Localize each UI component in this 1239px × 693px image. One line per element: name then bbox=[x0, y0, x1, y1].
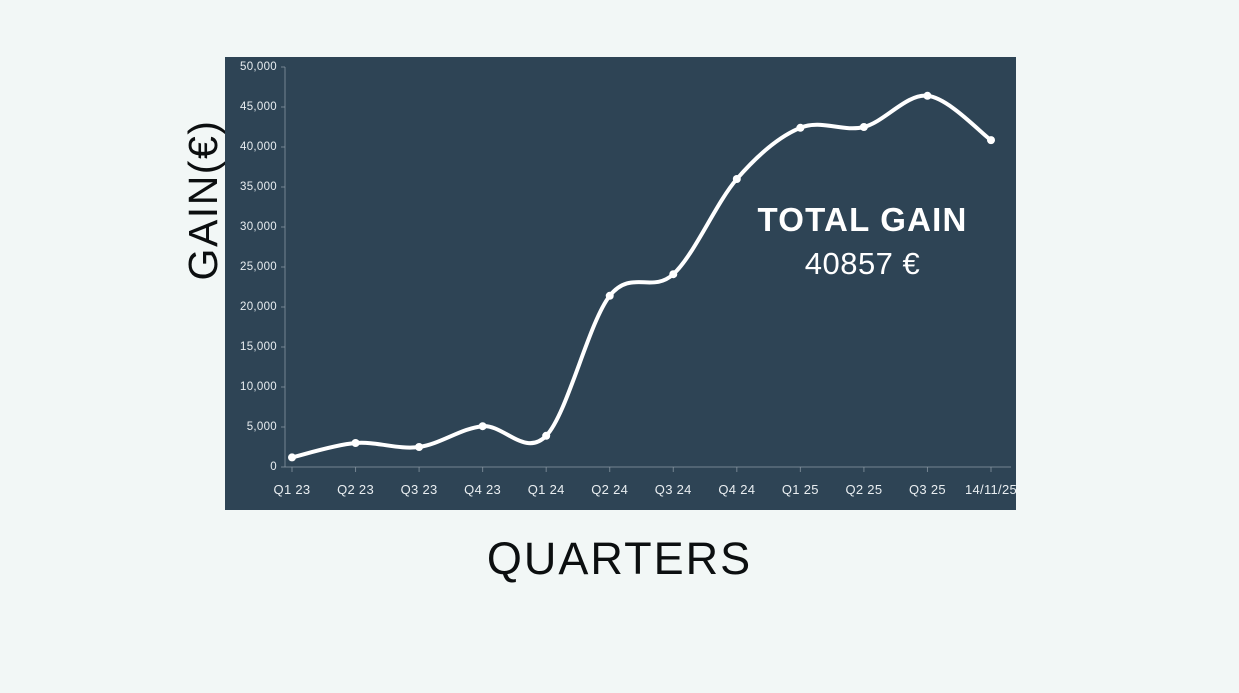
gain-series-markers bbox=[288, 92, 995, 462]
data-point-marker bbox=[415, 443, 423, 451]
data-point-marker bbox=[479, 422, 487, 430]
line-chart-plot: 05,00010,00015,00020,00025,00030,00035,0… bbox=[225, 57, 1016, 510]
x-tick-label: Q3 25 bbox=[909, 482, 946, 497]
y-tick-label: 15,000 bbox=[240, 341, 277, 353]
x-tick-label: Q2 24 bbox=[591, 482, 628, 497]
data-point-marker bbox=[352, 439, 360, 447]
x-tick-label: 14/11/25 bbox=[965, 482, 1016, 497]
x-tick-label: Q3 23 bbox=[401, 482, 438, 497]
data-point-marker bbox=[542, 432, 550, 440]
y-tick-label: 20,000 bbox=[240, 301, 277, 313]
x-axis-tick-group: Q1 23Q2 23Q3 23Q4 23Q1 24Q2 24Q3 24Q4 24… bbox=[274, 467, 1016, 497]
x-tick-label: Q2 25 bbox=[845, 482, 882, 497]
x-tick-label: Q4 23 bbox=[464, 482, 501, 497]
y-tick-label: 35,000 bbox=[240, 181, 277, 193]
data-point-marker bbox=[606, 292, 614, 300]
y-tick-label: 30,000 bbox=[240, 221, 277, 233]
axis-lines bbox=[285, 67, 1011, 467]
chart-stage: GAIN(€) 05,00010,00015,00020,00025,00030… bbox=[0, 0, 1239, 693]
x-tick-label: Q1 24 bbox=[528, 482, 565, 497]
gain-series-line bbox=[292, 96, 991, 458]
data-point-marker bbox=[669, 270, 677, 278]
chart-panel: 05,00010,00015,00020,00025,00030,00035,0… bbox=[225, 57, 1016, 510]
x-tick-label: Q1 25 bbox=[782, 482, 819, 497]
x-tick-label: Q4 24 bbox=[718, 482, 755, 497]
x-axis-title: QUARTERS bbox=[0, 533, 1239, 585]
y-tick-label: 45,000 bbox=[240, 101, 277, 113]
x-tick-label: Q3 24 bbox=[655, 482, 692, 497]
x-tick-label: Q1 23 bbox=[274, 482, 311, 497]
data-point-marker bbox=[733, 175, 741, 183]
y-tick-label: 5,000 bbox=[247, 421, 277, 433]
y-axis-tick-group: 05,00010,00015,00020,00025,00030,00035,0… bbox=[240, 61, 285, 473]
y-tick-label: 25,000 bbox=[240, 261, 277, 273]
x-tick-label: Q2 23 bbox=[337, 482, 374, 497]
data-point-marker bbox=[860, 123, 868, 131]
y-tick-label: 50,000 bbox=[240, 61, 277, 73]
data-point-marker bbox=[288, 453, 296, 461]
data-point-marker bbox=[796, 124, 804, 132]
data-point-marker bbox=[923, 92, 931, 100]
y-tick-label: 40,000 bbox=[240, 141, 277, 153]
y-tick-label: 0 bbox=[270, 461, 277, 473]
data-point-marker bbox=[987, 136, 995, 144]
y-tick-label: 10,000 bbox=[240, 381, 277, 393]
